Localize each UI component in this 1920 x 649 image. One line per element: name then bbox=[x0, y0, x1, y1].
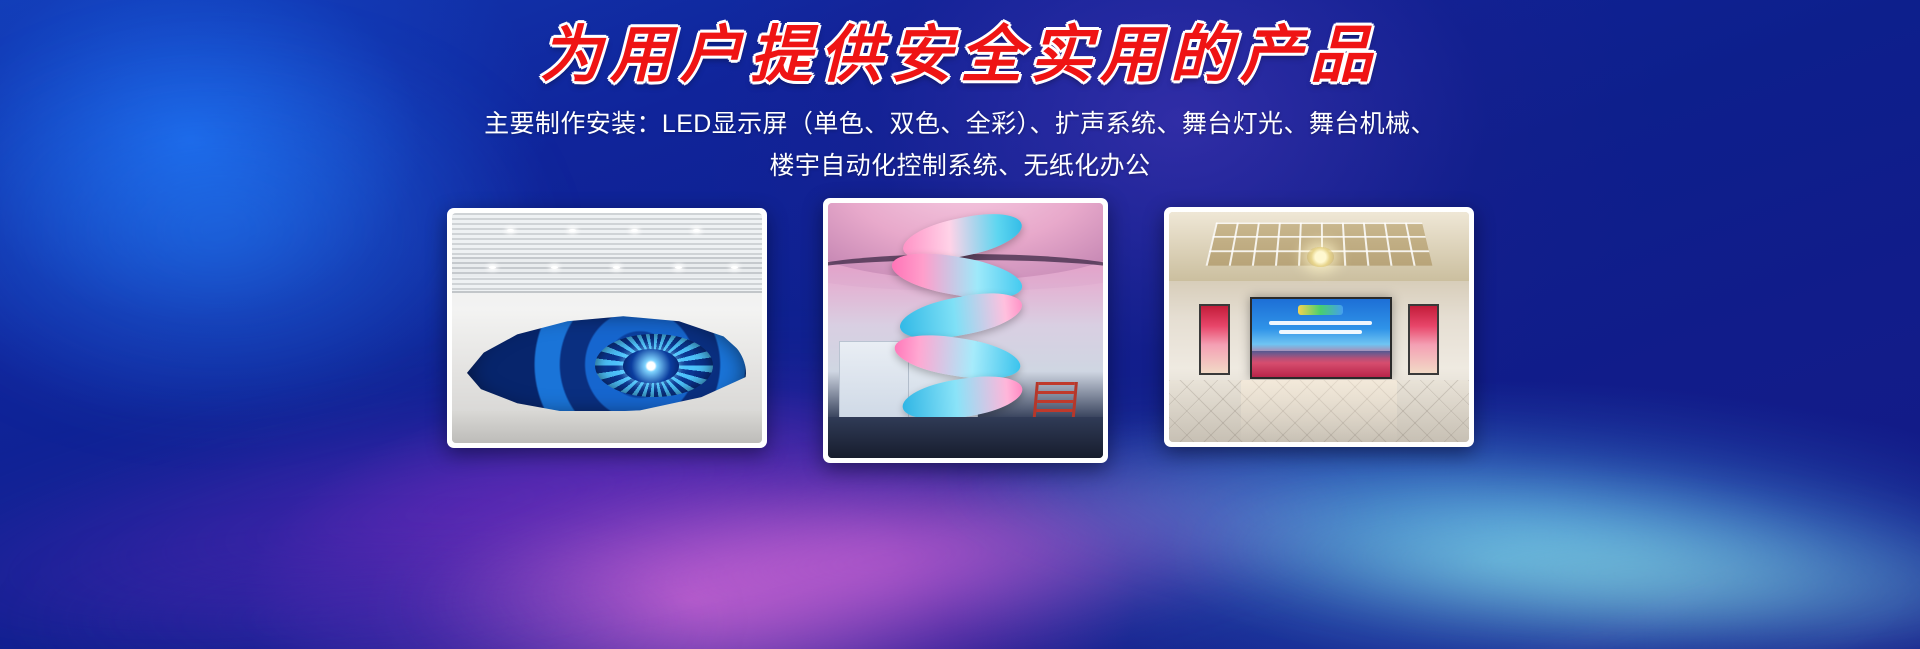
screen-logo bbox=[1298, 305, 1342, 315]
main-stage-led-screen bbox=[1250, 297, 1392, 379]
side-led-panel-right bbox=[1408, 304, 1439, 375]
hall-floor bbox=[452, 411, 762, 443]
ceiling-spotlight bbox=[551, 266, 558, 269]
gallery-card-conference-hall-led-screen[interactable] bbox=[1164, 207, 1474, 447]
spiral-led-column-photo bbox=[828, 203, 1103, 458]
subtitle-line-1: 主要制作安装：LED显示屏（单色、双色、全彩）、扩声系统、舞台灯光、舞台机械、 bbox=[0, 103, 1920, 145]
background-glow-bottom-left bbox=[20, 540, 720, 649]
subtitle-line-2: 楼宇自动化控制系统、无纸化办公 bbox=[0, 145, 1920, 187]
gallery-card-eye-shaped-led-display[interactable] bbox=[447, 208, 767, 448]
ceiling-spotlight bbox=[731, 266, 738, 269]
ceiling-spotlight bbox=[675, 266, 682, 269]
gallery-card-spiral-led-column[interactable] bbox=[823, 198, 1108, 463]
hero-banner: 为用户提供安全实用的产品 主要制作安装：LED显示屏（单色、双色、全彩）、扩声系… bbox=[0, 0, 1920, 649]
page-title: 为用户提供安全实用的产品 bbox=[0, 22, 1920, 88]
background-streak-teal bbox=[1176, 469, 1920, 649]
project-gallery bbox=[0, 200, 1920, 470]
chandelier bbox=[1307, 247, 1334, 268]
conference-hall-led-screen-photo bbox=[1169, 212, 1469, 442]
eye-shaped-screen bbox=[467, 314, 746, 415]
subtitle-block: 主要制作安装：LED显示屏（单色、双色、全彩）、扩声系统、舞台灯光、舞台机械、 … bbox=[0, 103, 1920, 187]
screen-skyline bbox=[1252, 351, 1390, 364]
side-led-panel-left bbox=[1199, 304, 1230, 375]
ceiling-slats bbox=[452, 213, 762, 293]
ceiling-spotlight bbox=[613, 266, 620, 269]
ceiling-spotlight bbox=[489, 266, 496, 269]
screen-text-line bbox=[1269, 321, 1371, 325]
floor-base bbox=[828, 417, 1103, 458]
marble-floor bbox=[1169, 380, 1469, 442]
eye-shaped-led-display-photo bbox=[452, 213, 762, 443]
screen-text-line bbox=[1279, 330, 1362, 334]
